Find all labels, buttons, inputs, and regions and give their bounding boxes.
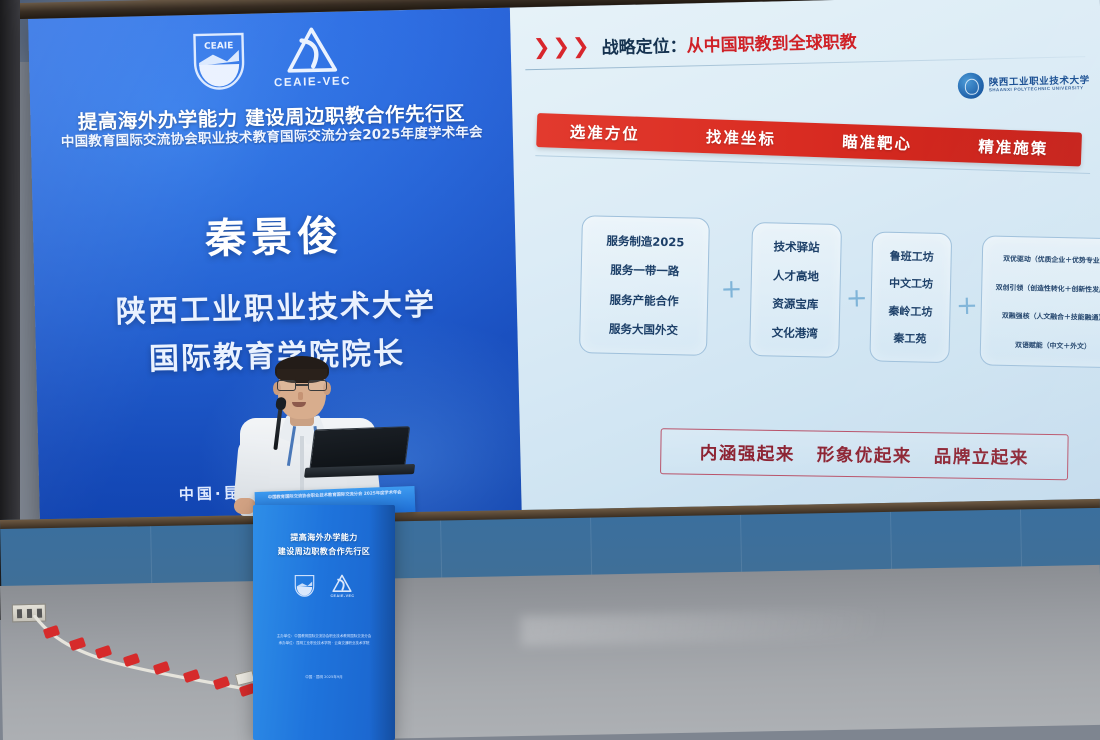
ceaie-vec-logo: CEAIE-VEC xyxy=(273,25,351,89)
scene-root: CEAIE CEAIE-VEC 提高海外办学能力 建设周边职教合作先行区 中国教… xyxy=(0,0,1100,740)
box3-item-1: 鲁班工坊 xyxy=(881,247,943,264)
box1-item-2: 服务一带一路 xyxy=(590,262,700,280)
podium: 提高海外办学能力 建设周边职教合作先行区 CEAIE-VEC 主办单位：中国教育… xyxy=(253,505,395,740)
red-bar-label-2: 找准坐标 xyxy=(673,124,810,151)
slogan-3: 品牌立起来 xyxy=(934,443,1029,469)
university-logo-text: 陕西工业职业技术大学 SHAANXI POLYTECHNIC UNIVERSIT… xyxy=(989,76,1090,93)
podium-ceaie-shield-icon xyxy=(293,573,316,598)
ceaie-shield-icon: CEAIE xyxy=(189,28,250,93)
speaker-name: 秦景俊 xyxy=(32,198,515,269)
box4-item-3: 双融强核（人文融合＋技能融通） xyxy=(986,310,1100,323)
chevron-right-icon: ❯❯❯ xyxy=(533,36,590,58)
box2-item-4: 文化港湾 xyxy=(758,324,830,342)
taped-cable xyxy=(32,615,262,695)
content-box-row: 服务制造2025 服务一带一路 服务产能合作 服务大国外交 + 技术驿站 人才高… xyxy=(537,144,1097,317)
laptop-screen xyxy=(309,426,410,470)
slogan-2: 形象优起来 xyxy=(817,441,912,467)
box1-item-1: 服务制造2025 xyxy=(590,232,700,250)
content-box-measures: 双优驱动（优质企业＋优势专业） 双创引领（创造性转化＋创新性发展） 双融强核（人… xyxy=(980,235,1100,368)
content-box-orientation: 服务制造2025 服务一带一路 服务产能合作 服务大国外交 xyxy=(579,215,710,356)
panel-logos: CEAIE CEAIE-VEC xyxy=(28,22,511,97)
box1-item-3: 服务产能合作 xyxy=(589,291,699,309)
box2-item-2: 人才高地 xyxy=(760,267,832,285)
laptop xyxy=(303,426,411,482)
podium-vec-logo: CEAIE-VEC xyxy=(330,574,354,598)
slide-title-prefix: 战略定位： xyxy=(601,36,686,58)
plus-operator-1: + xyxy=(720,276,742,303)
university-seal-icon xyxy=(958,73,985,100)
podium-vec-label: CEAIE-VEC xyxy=(330,594,354,598)
vec-triangle-icon xyxy=(285,26,338,75)
speaker-nose xyxy=(298,392,303,400)
university-name-en: SHAANXI POLYTECHNIC UNIVERSITY xyxy=(989,86,1090,93)
box4-item-4: 双语赋能（中文＋外文） xyxy=(985,338,1100,351)
slide-title-highlight: 从中国职教到全球职教 xyxy=(686,32,856,56)
vec-logo-label: CEAIE-VEC xyxy=(274,75,351,89)
box3-item-4: 秦工苑 xyxy=(879,330,941,347)
box4-item-1: 双优驱动（优质企业＋优势专业） xyxy=(987,253,1100,266)
slogan-banner: 内涵强起来 形象优起来 品牌立起来 xyxy=(660,428,1069,480)
plus-operator-2: + xyxy=(846,285,868,312)
slogan-1: 内涵强起来 xyxy=(700,439,795,465)
box1-item-4: 服务大国外交 xyxy=(588,321,698,339)
box4-item-2: 双创引领（创造性转化＋创新性发展） xyxy=(986,281,1100,294)
box3-item-3: 秦岭工坊 xyxy=(879,302,941,319)
projection-screen: CEAIE CEAIE-VEC 提高海外办学能力 建设周边职教合作先行区 中国教… xyxy=(28,0,1100,531)
university-logo: 陕西工业职业技术大学 SHAANXI POLYTECHNIC UNIVERSIT… xyxy=(958,70,1091,99)
content-box-target: 鲁班工坊 中文工坊 秦岭工坊 秦工苑 xyxy=(869,231,952,363)
svg-text:CEAIE: CEAIE xyxy=(204,41,233,52)
podium-shading xyxy=(369,505,395,740)
presentation-slide: ❯❯❯ 战略定位：从中国职教到全球职教 陕西工业职业技术大学 SHAANXI P… xyxy=(510,0,1100,520)
slide-title: 战略定位：从中国职教到全球职教 xyxy=(601,27,857,58)
slide-title-row: ❯❯❯ 战略定位：从中国职教到全球职教 xyxy=(533,27,857,60)
red-bar-label-1: 选准方位 xyxy=(536,119,673,146)
content-box-coordinates: 技术驿站 人才高地 资源宝库 文化港湾 xyxy=(749,222,842,358)
box2-item-3: 资源宝库 xyxy=(759,295,831,313)
box3-item-2: 中文工坊 xyxy=(880,275,942,292)
podium-top-text: 中国教育国际交流协会职业技术教育国际交流分会 2025年度学术年会 xyxy=(255,490,415,503)
glasses-icon xyxy=(277,380,327,392)
box2-item-1: 技术驿站 xyxy=(760,238,832,256)
podium-vec-triangle-icon xyxy=(332,574,352,593)
plus-operator-3: + xyxy=(956,293,978,320)
